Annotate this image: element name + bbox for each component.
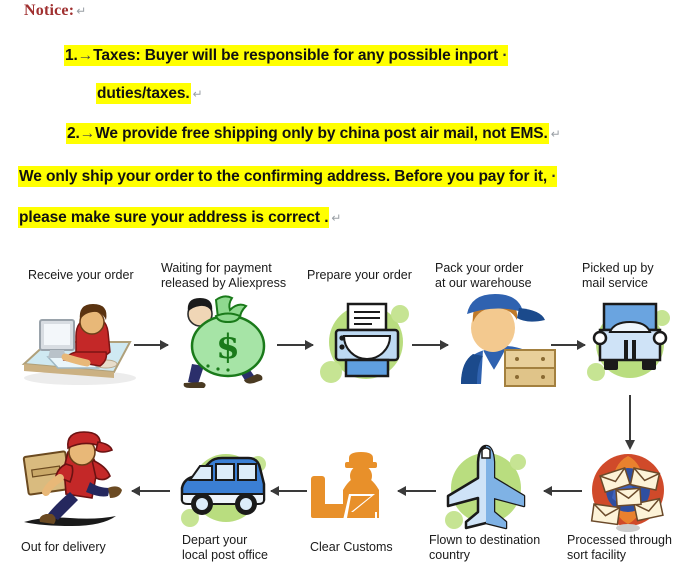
flow-label-clear-customs: Clear Customs (310, 540, 440, 555)
mail-truck-icon (578, 292, 682, 392)
flow-arrow-down (629, 395, 631, 441)
notice-line-4: We only ship your order to the confirmin… (18, 168, 557, 186)
notice-line-1-text: Taxes: Buyer will be responsible for any… (93, 47, 498, 64)
notice-line-2-text: duties/taxes. (97, 85, 190, 102)
paragraph-mark-icon: ↵ (329, 211, 341, 225)
notice-line-1-number: 1. (65, 47, 78, 64)
delivery-runner-icon (10, 430, 138, 538)
notice-line-4-text: We only ship your order to the confirmin… (19, 168, 547, 185)
flow-label-waiting-for-payment: Waiting for payment released by Aliexpre… (161, 261, 311, 290)
warehouse-worker-icon (443, 292, 563, 392)
customs-officer-icon (305, 446, 405, 532)
notice-line-3-number: 2. (67, 125, 80, 142)
notice-line-5: please make sure your address is correct… (18, 209, 341, 227)
notice-heading-text: Notice: (24, 2, 74, 19)
delivery-van-icon (170, 442, 280, 538)
notice-line-3: 2.→We provide free shipping only by chin… (66, 125, 561, 143)
flow-label-out-for-delivery: Out for delivery (21, 540, 161, 555)
notice-line-3-text: We provide free shipping only by china p… (95, 125, 548, 142)
notice-heading: Notice:↵ (24, 2, 87, 20)
printer-icon (312, 294, 422, 390)
money-bag-icon: $ (172, 290, 276, 390)
flow-label-receive-your-order: Receive your order (28, 268, 168, 283)
paragraph-mark-icon: ↵ (191, 87, 203, 101)
notice-line-2: duties/taxes.↵ (96, 85, 203, 103)
paragraph-mark-icon: ↵ (74, 4, 86, 18)
flow-arrow-right-1 (134, 344, 168, 346)
flow-arrow-right-2 (277, 344, 313, 346)
svg-text:$: $ (216, 327, 240, 367)
flow-label-flown-to-destination: Flown to destination country (429, 533, 574, 562)
notice-and-shipping-flow-page: Notice:↵ 1.→Taxes: Buyer will be respons… (0, 0, 685, 586)
flow-label-prepare-your-order: Prepare your order (307, 268, 447, 283)
space-mark-icon: · (547, 168, 556, 185)
flow-label-pack-your-order: Pack your order at our warehouse (435, 261, 570, 290)
shipping-flow-diagram: Receive your order Waiting for payment r… (0, 250, 685, 586)
person-at-computer-icon (18, 302, 143, 387)
airplane-icon (434, 438, 538, 538)
notice-line-1: 1.→Taxes: Buyer will be responsible for … (64, 47, 508, 65)
globe-mail-sort-icon (578, 446, 678, 534)
flow-label-depart-local-post-office: Depart your local post office (182, 533, 312, 562)
flow-label-picked-up-by-mail-service: Picked up by mail service (582, 261, 685, 290)
tab-mark-icon: → (78, 47, 93, 64)
paragraph-mark-icon: ↵ (549, 127, 561, 141)
flow-label-processed-through-sort-facility: Processed through sort facility (567, 533, 685, 562)
tab-mark-icon: → (80, 125, 95, 142)
space-mark-icon: · (498, 47, 507, 64)
flow-arrow-left-1 (544, 490, 582, 492)
notice-line-5-text: please make sure your address is correct… (19, 209, 328, 226)
